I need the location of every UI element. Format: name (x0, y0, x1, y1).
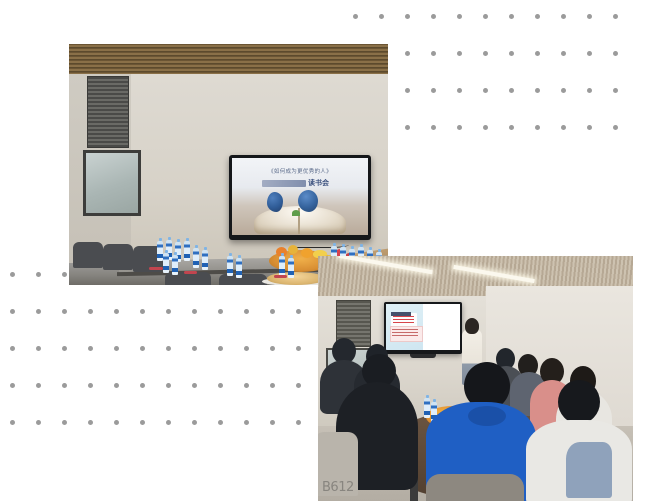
fruit-item (288, 245, 298, 254)
image-canvas: 《如何成为更优秀的人》 读书会 (0, 0, 655, 501)
grid-dot (62, 272, 67, 277)
grid-dot (140, 309, 145, 314)
grid-dot (114, 383, 119, 388)
grid-dot (431, 125, 436, 130)
grid-dot (587, 51, 592, 56)
pen (149, 267, 163, 270)
grid-dot (88, 383, 93, 388)
grid-dot (62, 309, 67, 314)
water-bottle (163, 253, 169, 273)
wood-slat-ceiling (69, 44, 388, 75)
watermark-b612: B612 (322, 480, 354, 495)
grid-dot (166, 309, 171, 314)
water-bottle (288, 258, 294, 278)
grid-dot (270, 383, 275, 388)
dot-grid-bottom-left (10, 272, 315, 432)
grid-dot (270, 346, 275, 351)
grid-dot (535, 51, 540, 56)
jacket-panel (566, 442, 612, 498)
water-bottle (193, 248, 199, 268)
grid-dot (10, 272, 15, 277)
grid-dot (166, 346, 171, 351)
grid-dot (457, 88, 462, 93)
grid-dot (353, 14, 358, 19)
water-bottle (236, 258, 242, 278)
grid-dot (36, 346, 41, 351)
sprout-icon (292, 210, 300, 216)
slide-subtitle: 读书会 (308, 178, 329, 188)
grid-dot (62, 420, 67, 425)
photo-audience: B612 (318, 256, 633, 501)
grid-dot (140, 383, 145, 388)
office-chair (73, 242, 103, 268)
grid-dot (509, 88, 514, 93)
slide-logo (262, 180, 306, 187)
grid-dot (36, 383, 41, 388)
grid-dot (36, 309, 41, 314)
grid-dot (535, 14, 540, 19)
air-conditioner-vent-icon (87, 76, 129, 148)
chair (426, 474, 524, 501)
grid-dot (192, 309, 197, 314)
grid-dot (431, 14, 436, 19)
audience-scene: B612 (318, 256, 633, 501)
grid-dot (114, 420, 119, 425)
foreground-person-head (558, 380, 600, 424)
grid-dot (244, 309, 249, 314)
globe-right-icon (298, 190, 318, 212)
grid-dot (244, 420, 249, 425)
grid-dot (192, 420, 197, 425)
grid-dot (613, 51, 618, 56)
pen (274, 275, 287, 278)
grid-dot (587, 14, 592, 19)
grid-dot (218, 346, 223, 351)
grid-dot (483, 14, 488, 19)
grid-dot (270, 309, 275, 314)
grid-dot (218, 420, 223, 425)
grid-dot (613, 14, 618, 19)
open-book-graphic (254, 206, 346, 234)
grid-dot (140, 420, 145, 425)
grid-dot (10, 309, 15, 314)
grid-dot (62, 383, 67, 388)
office-chair (219, 274, 267, 285)
meeting-room-scene: 《如何成为更优秀的人》 读书会 (69, 44, 388, 285)
grid-dot (379, 14, 384, 19)
slide-title: 《如何成为更优秀的人》 (232, 167, 368, 175)
grid-dot (509, 51, 514, 56)
slide-heading (391, 312, 411, 316)
presenter-head (465, 318, 479, 334)
grid-dot (192, 383, 197, 388)
tv-screen: 《如何成为更优秀的人》 读书会 (232, 158, 368, 235)
grid-dot (88, 420, 93, 425)
pastries (267, 272, 325, 285)
water-bottle (184, 241, 190, 261)
grid-dot (535, 88, 540, 93)
grid-dot (296, 309, 301, 314)
grid-dot (10, 346, 15, 351)
grid-dot (405, 51, 410, 56)
grid-dot (270, 420, 275, 425)
grid-dot (36, 420, 41, 425)
grid-dot (166, 383, 171, 388)
dot-grid-top-right (353, 14, 631, 136)
grid-dot (10, 420, 15, 425)
grid-dot (561, 51, 566, 56)
grid-dot (405, 14, 410, 19)
window-mullion (83, 150, 86, 210)
grid-dot (140, 346, 145, 351)
grid-dot (405, 125, 410, 130)
grid-dot (296, 420, 301, 425)
grid-dot (457, 14, 462, 19)
grid-dot (296, 383, 301, 388)
grid-dot (114, 346, 119, 351)
grid-dot (457, 125, 462, 130)
grid-dot (62, 346, 67, 351)
grid-dot (10, 383, 15, 388)
slide-right-page (423, 304, 460, 350)
grid-dot (166, 420, 171, 425)
water-bottle (279, 256, 285, 276)
water-bottle (202, 250, 208, 270)
grid-dot (36, 272, 41, 277)
grid-dot (431, 51, 436, 56)
grid-dot (244, 346, 249, 351)
grid-dot (483, 88, 488, 93)
slide-cover-text (393, 316, 414, 325)
grid-dot (561, 125, 566, 130)
office-chair (103, 244, 133, 270)
window (83, 150, 141, 216)
slide-body-text (392, 329, 418, 337)
grid-dot (296, 346, 301, 351)
grid-dot (483, 51, 488, 56)
grid-dot (218, 309, 223, 314)
water-bottle (172, 255, 178, 275)
grid-dot (431, 88, 436, 93)
grid-dot (114, 309, 119, 314)
grid-dot (613, 125, 618, 130)
grid-dot (88, 346, 93, 351)
grid-dot (457, 51, 462, 56)
water-bottle (424, 398, 430, 418)
grid-dot (561, 14, 566, 19)
pen (184, 271, 197, 274)
grid-dot (587, 125, 592, 130)
grid-dot (405, 88, 410, 93)
grid-dot (509, 125, 514, 130)
grid-dot (218, 383, 223, 388)
orange-fruit (301, 248, 313, 258)
water-bottle (227, 256, 233, 276)
grid-dot (587, 88, 592, 93)
grid-dot (244, 383, 249, 388)
hood (468, 406, 506, 426)
presentation-screen-display (386, 304, 460, 350)
photo-meeting-room: 《如何成为更优秀的人》 读书会 (69, 44, 388, 285)
grid-dot (192, 346, 197, 351)
grid-dot (535, 125, 540, 130)
globe-left-icon (267, 192, 283, 212)
screen-stand (410, 354, 436, 358)
grid-dot (88, 309, 93, 314)
grid-dot (561, 88, 566, 93)
grid-dot (483, 125, 488, 130)
grid-dot (613, 88, 618, 93)
grid-dot (509, 14, 514, 19)
